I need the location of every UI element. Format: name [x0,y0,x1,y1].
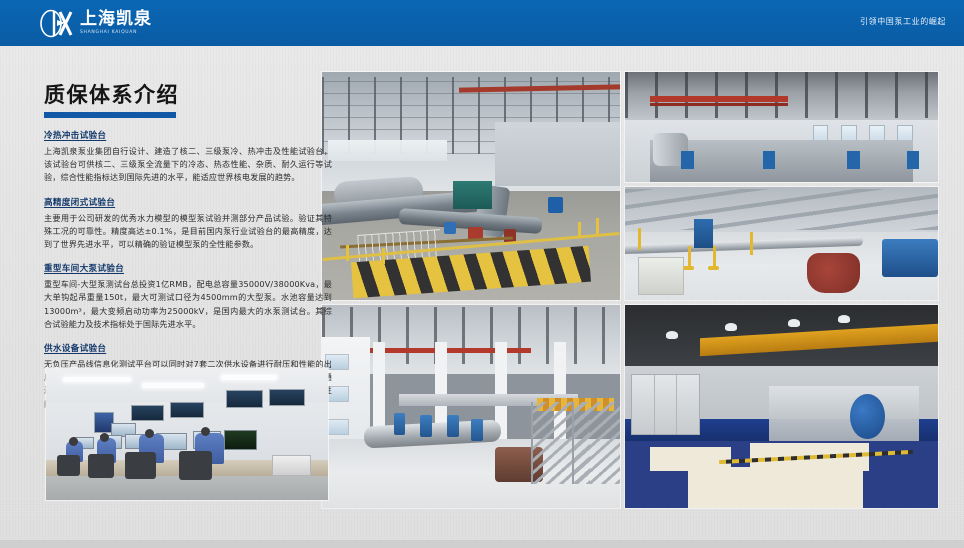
photo-gallery-grid [322,72,938,508]
section-body: 上海凯泉泵业集团自行设计、建造了核二、三级泵冷、热冲击及性能试验台，该试验台可供… [44,145,332,185]
photo-scene [625,187,938,300]
slide-canvas: 上海凯泉 SHANGHAI KAIQUAN 引领中国泵工业的崛起 质保体系介绍 … [0,0,964,548]
photo-heavy-workshop-large-pump-hall [322,305,620,508]
title-underline-rule [44,112,176,118]
photo-water-supply-equipment-test-room [625,305,938,508]
section-heading: 高精度闭式试验台 [44,197,332,210]
section-closed-loop: 高精度闭式试验台 主要用于公司研发的优秀水力模型的模型泵试验并测部分产品试验。验… [44,197,332,252]
photo-control-room [46,368,328,500]
logo-text-block: 上海凯泉 SHANGHAI KAIQUAN [80,11,152,36]
logo-chinese-name: 上海凯泉 [80,11,152,28]
section-hot-cold-shock: 冷热冲击试验台 上海凯泉泵业集团自行设计、建造了核二、三级泵冷、热冲击及性能试验… [44,130,332,185]
photo-scene [625,72,938,182]
page-title: 质保体系介绍 [44,82,332,108]
slide-bottom-strip [0,540,964,548]
logo-english-name: SHANGHAI KAIQUAN [80,30,152,36]
section-body: 主要用于公司研发的优秀水力模型的模型泵试验并测部分产品试验。验证其特殊工况的可靠… [44,212,332,252]
photo-scene [625,305,938,508]
header-slogan: 引领中国泵工业的崛起 [860,16,946,27]
photo-scene [46,368,328,500]
kaiquan-k-monogram-icon [40,9,74,38]
section-body: 重型车间-大型泵测试台总投资1亿RMB，配电总容量35000V/38000Kva… [44,278,332,331]
page-header: 上海凯泉 SHANGHAI KAIQUAN 引领中国泵工业的崛起 [0,0,964,46]
photo-scene [322,72,620,300]
photo-closed-loop-test-hall [625,72,938,182]
content-column: 质保体系介绍 冷热冲击试验台 上海凯泉泵业集团自行设计、建造了核二、三级泵冷、热… [44,82,332,411]
section-heading: 冷热冲击试验台 [44,130,332,143]
company-logo[interactable]: 上海凯泉 SHANGHAI KAIQUAN [40,8,152,38]
photo-scene [322,305,620,508]
photo-hot-cold-shock-test-hall [322,72,620,300]
photo-pipe-test-bench [625,187,938,300]
section-heavy-workshop: 重型车间大泵试验台 重型车间-大型泵测试台总投资1亿RMB，配电总容量35000… [44,263,332,331]
section-heading: 供水设备试验台 [44,343,332,356]
section-heading: 重型车间大泵试验台 [44,263,332,276]
